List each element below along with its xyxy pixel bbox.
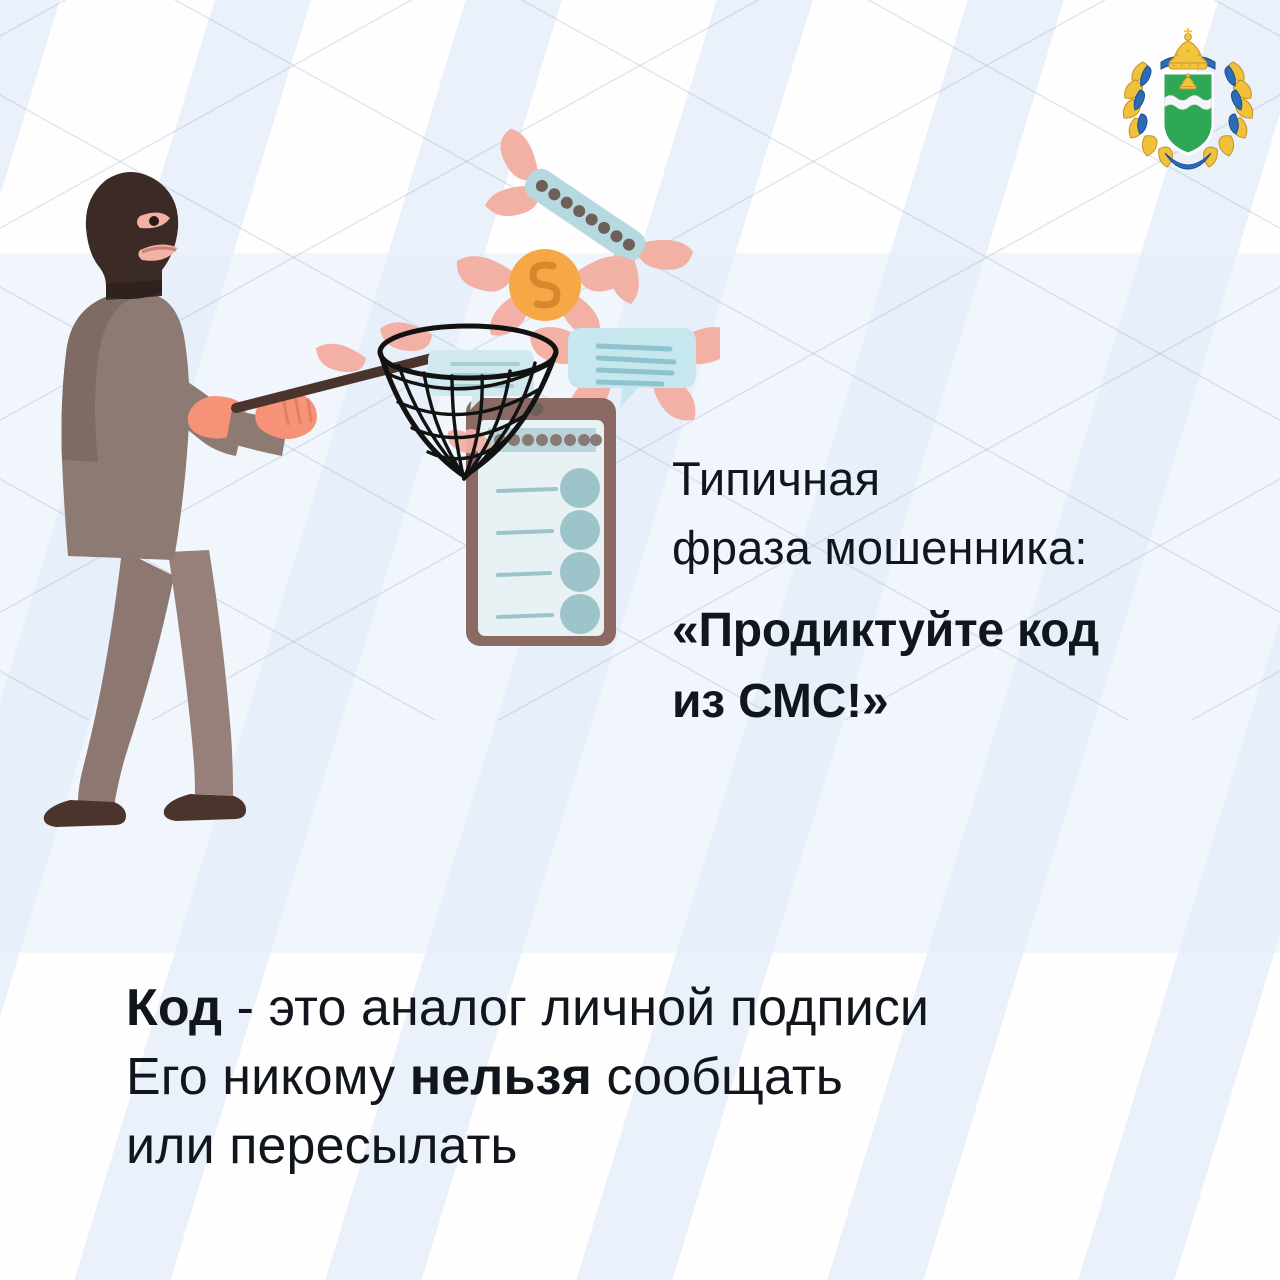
coat-of-arms-emblem (1113, 22, 1263, 172)
flying-coin (457, 249, 633, 336)
phrase-line-2: фраза мошенника: (672, 513, 1232, 582)
advice-line-2-pre: Его никому (126, 1048, 410, 1106)
poster-root: Типичная фраза мошенника: «Продиктуйте к… (0, 0, 1280, 1280)
advice-block: Код - это аналог личной подписи Его нико… (126, 974, 1186, 1181)
advice-line-1-rest: - это аналог личной подписи (222, 979, 929, 1037)
advice-line-2: Его никому нельзя сообщать (126, 1043, 1186, 1112)
scammer-phrase-block: Типичная фраза мошенника: «Продиктуйте к… (672, 444, 1232, 737)
phrase-line-4: из СМС!» (672, 667, 1232, 738)
scam-illustration (0, 120, 720, 860)
advice-line-2-bold: нельзя (410, 1048, 592, 1106)
advice-line-1-bold: Код (126, 979, 222, 1037)
scammer-character (44, 172, 317, 827)
advice-line-2-post: сообщать (592, 1048, 843, 1106)
phrase-line-1: Типичная (672, 444, 1232, 513)
phrase-line-3: «Продиктуйте код (672, 596, 1232, 667)
advice-line-1: Код - это аналог личной подписи (126, 974, 1186, 1043)
phrase-spacer (672, 582, 1232, 596)
smartphone (466, 398, 616, 646)
advice-line-3: или пересылать (126, 1112, 1186, 1181)
